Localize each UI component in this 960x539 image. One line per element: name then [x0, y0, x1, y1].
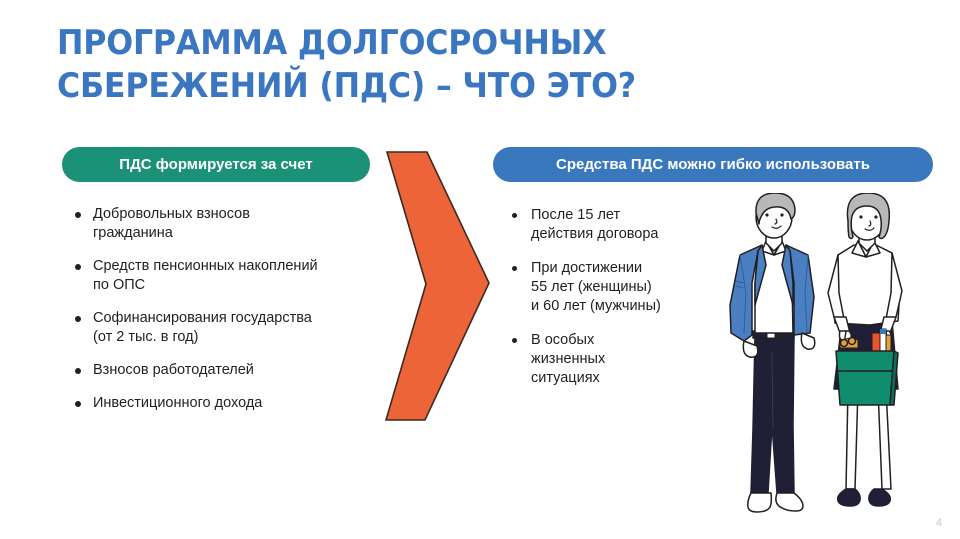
right-chevron-arrow-icon — [380, 148, 496, 424]
left-panel-header-pill: ПДС формируется за счет — [62, 147, 370, 182]
list-item: Средств пенсионных накоплений по ОПС — [72, 257, 382, 295]
list-item: В особых жизненных ситуациях — [508, 331, 713, 388]
list-item: Инвестиционного дохода — [72, 394, 382, 413]
list-item: Софинансирования государства (от 2 тыс. … — [72, 309, 382, 347]
left-panel-bullet-list: Добровольных взносов гражданина Средств … — [72, 205, 382, 427]
right-panel-header-pill: Средства ПДС можно гибко использовать — [493, 147, 933, 182]
right-panel-header-label: Средства ПДС можно гибко использовать — [556, 156, 870, 173]
slide: ПРОГРАММА ДОЛГОСРОЧНЫХ СБЕРЕЖЕНИЙ (ПДС) … — [0, 0, 960, 539]
list-item: После 15 лет действия договора — [508, 206, 713, 244]
man-and-woman-illustration — [722, 193, 938, 523]
page-title: ПРОГРАММА ДОЛГОСРОЧНЫХ СБЕРЕЖЕНИЙ (ПДС) … — [57, 22, 764, 108]
list-item: Добровольных взносов гражданина — [72, 205, 382, 243]
list-item: Взносов работодателей — [72, 361, 382, 380]
left-panel-header-label: ПДС формируется за счет — [119, 156, 312, 173]
right-panel-bullet-list: После 15 лет действия договора При дости… — [508, 206, 713, 403]
list-item: При достижении 55 лет (женщины) и 60 лет… — [508, 259, 713, 316]
page-number: 4 — [936, 517, 942, 529]
